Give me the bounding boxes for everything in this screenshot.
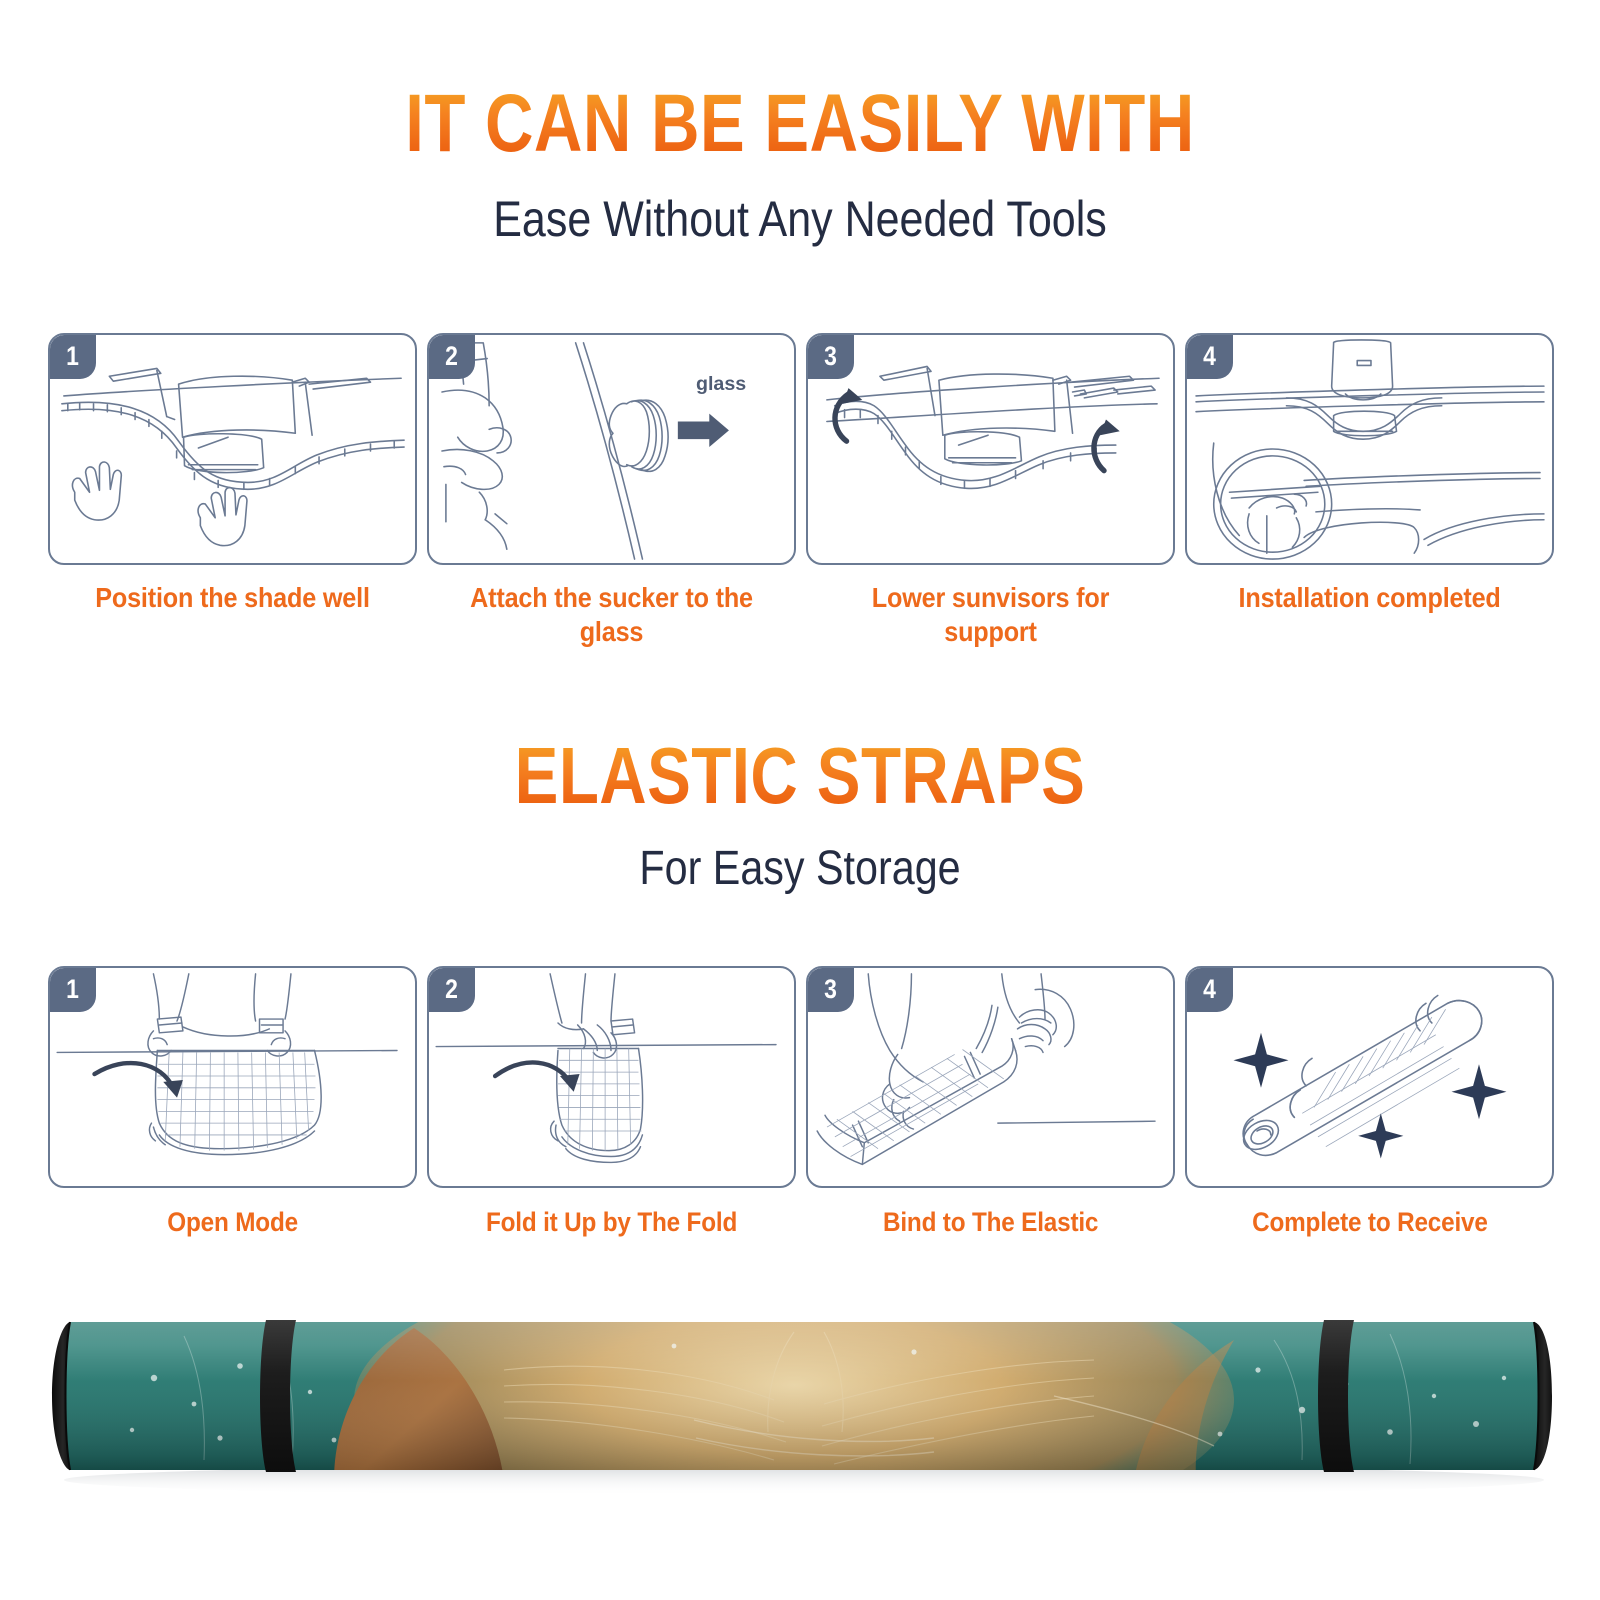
rolled-mat-sparkle-illustration [1187, 968, 1552, 1186]
storage-step-2-panel: 2 [427, 966, 796, 1188]
install-steps-row: 1 Position the shade well [48, 333, 1556, 649]
step-number-badge: 3 [808, 335, 854, 379]
storage-subhead: For Easy Storage [112, 841, 1488, 896]
step-number-badge: 2 [429, 968, 475, 1012]
install-step-1: 1 Position the shade well [48, 333, 417, 649]
storage-step-1: 1 Open Mode [48, 966, 417, 1239]
storage-step-2: 2 Fold it Up by The Fold [427, 966, 796, 1239]
install-step-1-caption: Position the shade well [48, 581, 417, 615]
storage-step-1-panel: 1 [48, 966, 417, 1188]
storage-step-3: 3 Bind to The Elastic [806, 966, 1175, 1239]
bind-elastic-strap-illustration [808, 968, 1173, 1186]
step-number-badge: 2 [429, 335, 475, 379]
rolled-product-photo [34, 1300, 1568, 1500]
install-headline-block: IT CAN BE EASILY WITH Ease Without Any N… [0, 82, 1600, 248]
step-number-badge: 1 [50, 968, 96, 1012]
storage-step-2-caption: Fold it Up by The Fold [427, 1206, 796, 1239]
install-step-2-panel: glass 2 [427, 333, 796, 565]
storage-step-3-panel: 3 [806, 966, 1175, 1188]
install-step-2: glass 2 Attach the sucker to the glass [427, 333, 796, 649]
infographic-page: IT CAN BE EASILY WITH Ease Without Any N… [0, 0, 1600, 1600]
hand-suction-cup-glass-illustration: glass [429, 335, 794, 563]
storage-step-4-caption: Complete to Receive [1185, 1206, 1554, 1239]
step-number-badge: 1 [50, 335, 96, 379]
step-number-badge: 4 [1187, 968, 1233, 1012]
install-headline: IT CAN BE EASILY WITH [144, 82, 1456, 166]
storage-steps-row: 1 Open Mode [48, 966, 1556, 1239]
sunvisor-lower-illustration [808, 335, 1173, 563]
storage-step-4-panel: 4 [1185, 966, 1554, 1188]
install-step-1-panel: 1 [48, 333, 417, 565]
car-dashboard-shade-illustration [50, 335, 415, 563]
install-step-4-panel: 4 [1185, 333, 1554, 565]
fold-mat-illustration [429, 968, 794, 1186]
install-step-2-caption: Attach the sucker to the glass [427, 581, 796, 649]
step-number-badge: 3 [808, 968, 854, 1012]
install-step-3-caption: Lower sunvisors for support [806, 581, 1175, 649]
completed-install-interior-illustration [1187, 335, 1552, 563]
storage-headline-block: ELASTIC STRAPS For Easy Storage [0, 735, 1600, 896]
install-step-4: 4 Installation completed [1185, 333, 1554, 649]
open-mat-hands-illustration [50, 968, 415, 1186]
storage-step-3-caption: Bind to The Elastic [806, 1206, 1175, 1239]
storage-headline: ELASTIC STRAPS [144, 735, 1456, 817]
step-number-badge: 4 [1187, 335, 1233, 379]
glass-annotation: glass [696, 373, 746, 395]
install-subhead: Ease Without Any Needed Tools [112, 190, 1488, 248]
install-step-4-caption: Installation completed [1185, 581, 1554, 615]
storage-step-4: 4 Complete to Receive [1185, 966, 1554, 1239]
install-step-3: 3 Lower sunvisors for support [806, 333, 1175, 649]
storage-step-1-caption: Open Mode [48, 1206, 417, 1239]
install-step-3-panel: 3 [806, 333, 1175, 565]
